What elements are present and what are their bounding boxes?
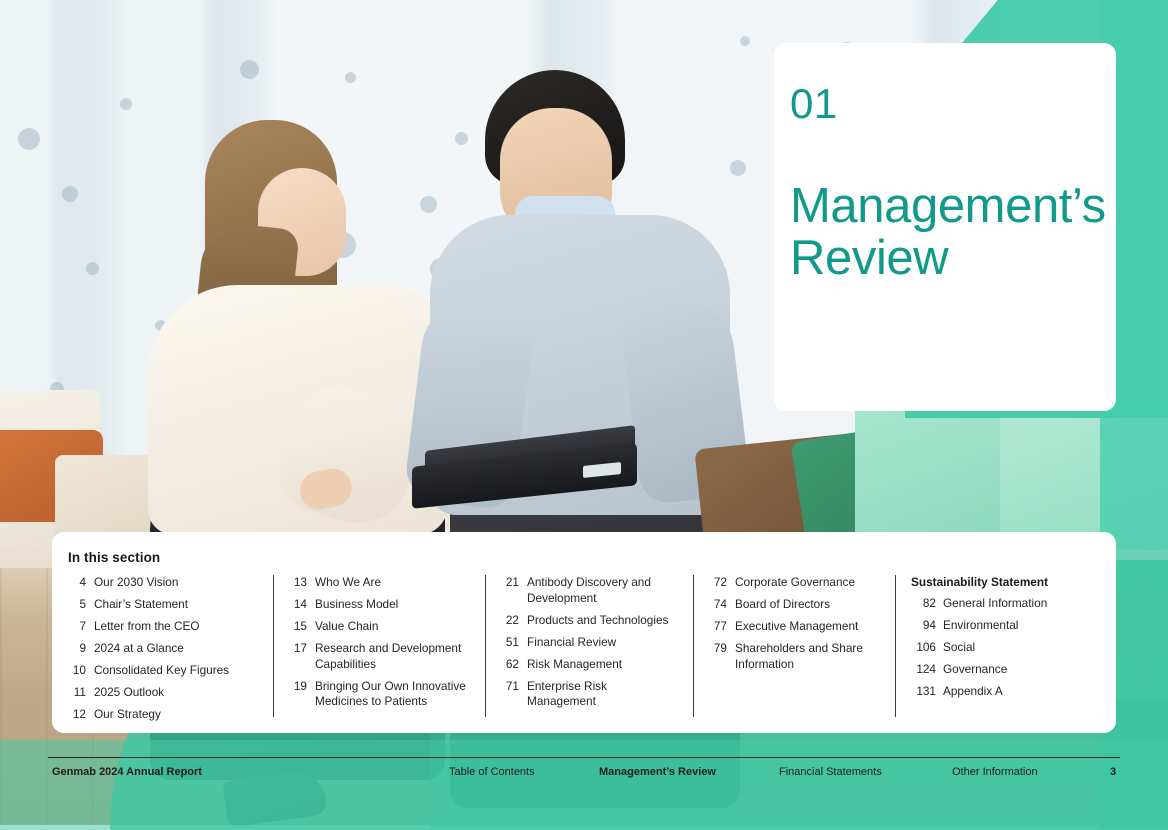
toc-entry-page: 9 bbox=[68, 641, 94, 657]
toc-entry[interactable]: 71Enterprise Risk Management bbox=[501, 679, 679, 710]
toc-entry-label: Antibody Discovery and Development bbox=[527, 575, 679, 606]
toc-entry[interactable]: 92024 at a Glance bbox=[68, 641, 259, 657]
photo-wall-dot bbox=[1120, 80, 1137, 97]
toc-entry-page: 10 bbox=[68, 663, 94, 679]
toc-entry-page: 62 bbox=[501, 657, 527, 673]
page-footer: Genmab 2024 Annual Report Table of Conte… bbox=[0, 766, 1168, 788]
toc-entry-page: 15 bbox=[289, 619, 315, 635]
toc-entry-label: Our 2030 Vision bbox=[94, 575, 259, 591]
toc-entry[interactable]: 10Consolidated Key Figures bbox=[68, 663, 259, 679]
toc-entry-page: 74 bbox=[709, 597, 735, 613]
toc-entry[interactable]: 77Executive Management bbox=[709, 619, 881, 635]
toc-column-sustainability: Sustainability Statement 82General Infor… bbox=[895, 575, 1100, 725]
photo-wall-dot bbox=[86, 262, 99, 275]
toc-entry-page: 51 bbox=[501, 635, 527, 651]
photo-wall-dot bbox=[345, 72, 356, 83]
photo-wall-dot bbox=[18, 128, 40, 150]
footer-nav-financial-statements[interactable]: Financial Statements bbox=[779, 766, 882, 778]
in-this-section-card: In this section 4Our 2030 Vision5Chair’s… bbox=[52, 532, 1116, 733]
toc-entry-page: 79 bbox=[709, 641, 735, 672]
toc-entry-page: 17 bbox=[289, 641, 315, 672]
toc-entry-page: 4 bbox=[68, 575, 94, 591]
toc-columns: 4Our 2030 Vision5Chair’s Statement7Lette… bbox=[68, 575, 1100, 725]
toc-entry-page: 13 bbox=[289, 575, 315, 591]
sustainability-entry[interactable]: 124Governance bbox=[911, 662, 1086, 678]
section-title-card: 01 Management’s Review bbox=[774, 43, 1116, 411]
sustainability-entry[interactable]: 82General Information bbox=[911, 596, 1086, 612]
section-number: 01 bbox=[790, 83, 1116, 125]
toc-entry[interactable]: 112025 Outlook bbox=[68, 685, 259, 701]
sustainability-entry-label: Governance bbox=[943, 662, 1007, 678]
sustainability-entry-page: 94 bbox=[911, 618, 943, 634]
sustainability-entry-label: Environmental bbox=[943, 618, 1018, 634]
sustainability-entry[interactable]: 131Appendix A bbox=[911, 684, 1086, 700]
toc-entry[interactable]: 62Risk Management bbox=[501, 657, 679, 673]
toc-entry-label: Chair’s Statement bbox=[94, 597, 259, 613]
toc-entry-label: Risk Management bbox=[527, 657, 679, 673]
sustainability-entry-page: 82 bbox=[911, 596, 943, 612]
sustainability-entry-label: General Information bbox=[943, 596, 1047, 612]
toc-column-4: 72Corporate Governance74Board of Directo… bbox=[693, 575, 895, 725]
toc-entry[interactable]: 7Letter from the CEO bbox=[68, 619, 259, 635]
toc-entry[interactable]: 51Financial Review bbox=[501, 635, 679, 651]
toc-entry-label: Research and Development Capabilities bbox=[315, 641, 471, 672]
toc-entry-label: Products and Technologies bbox=[527, 613, 679, 629]
photo-wall-dot bbox=[740, 36, 750, 46]
footer-nav-managements-review[interactable]: Management’s Review bbox=[599, 766, 716, 778]
toc-entry-label: Who We Are bbox=[315, 575, 471, 591]
toc-entry-page: 12 bbox=[68, 707, 94, 723]
toc-entry-page: 7 bbox=[68, 619, 94, 635]
toc-entry[interactable]: 14Business Model bbox=[289, 597, 471, 613]
toc-entry-label: 2025 Outlook bbox=[94, 685, 259, 701]
toc-entry-label: Corporate Governance bbox=[735, 575, 881, 591]
toc-entry-label: Letter from the CEO bbox=[94, 619, 259, 635]
sustainability-entry-page: 131 bbox=[911, 684, 943, 700]
toc-entry-label: Our Strategy bbox=[94, 707, 259, 723]
toc-entry-page: 77 bbox=[709, 619, 735, 635]
photo-wall-dot bbox=[240, 60, 259, 79]
footer-nav-other-information[interactable]: Other Information bbox=[952, 766, 1038, 778]
toc-entry[interactable]: 79Shareholders and Share Information bbox=[709, 641, 881, 672]
toc-entry[interactable]: 21Antibody Discovery and Development bbox=[501, 575, 679, 606]
sustainability-entry-page: 106 bbox=[911, 640, 943, 656]
footer-page-number: 3 bbox=[1110, 766, 1116, 778]
sustainability-entry[interactable]: 106Social bbox=[911, 640, 1086, 656]
toc-entry-label: Financial Review bbox=[527, 635, 679, 651]
toc-entry-label: Business Model bbox=[315, 597, 471, 613]
sustainability-entry-page: 124 bbox=[911, 662, 943, 678]
toc-entry[interactable]: 13Who We Are bbox=[289, 575, 471, 591]
toc-entry[interactable]: 72Corporate Governance bbox=[709, 575, 881, 591]
toc-entry-page: 14 bbox=[289, 597, 315, 613]
photo-wall-dot bbox=[730, 160, 746, 176]
toc-entry-page: 21 bbox=[501, 575, 527, 606]
sustainability-list: 82General Information94Environmental106S… bbox=[911, 596, 1086, 700]
photo-wall-dot bbox=[420, 196, 437, 213]
sustainability-entry-label: Appendix A bbox=[943, 684, 1003, 700]
sustainability-entry-label: Social bbox=[943, 640, 975, 656]
footer-nav-table-of-contents[interactable]: Table of Contents bbox=[449, 766, 535, 778]
toc-entry[interactable]: 19Bringing Our Own Innovative Medicines … bbox=[289, 679, 471, 710]
photo-pillow-mint-2 bbox=[1000, 395, 1168, 550]
toc-entry[interactable]: 5Chair’s Statement bbox=[68, 597, 259, 613]
toc-entry-label: Board of Directors bbox=[735, 597, 881, 613]
toc-entry-page: 71 bbox=[501, 679, 527, 710]
sustainability-heading: Sustainability Statement bbox=[911, 575, 1086, 589]
toc-entry-label: 2024 at a Glance bbox=[94, 641, 259, 657]
toc-column-1: 4Our 2030 Vision5Chair’s Statement7Lette… bbox=[68, 575, 273, 725]
toc-entry-page: 5 bbox=[68, 597, 94, 613]
toc-entry-label: Executive Management bbox=[735, 619, 881, 635]
toc-column-2: 13Who We Are14Business Model15Value Chai… bbox=[273, 575, 485, 725]
toc-entry[interactable]: 12Our Strategy bbox=[68, 707, 259, 723]
in-this-section-heading: In this section bbox=[68, 550, 1100, 565]
sustainability-entry[interactable]: 94Environmental bbox=[911, 618, 1086, 634]
toc-entry[interactable]: 4Our 2030 Vision bbox=[68, 575, 259, 591]
photo-pillow-mint-1 bbox=[855, 398, 1015, 548]
footer-brand: Genmab 2024 Annual Report bbox=[52, 766, 202, 778]
photo-wall-dot bbox=[120, 98, 132, 110]
toc-entry[interactable]: 22Products and Technologies bbox=[501, 613, 679, 629]
toc-entry-page: 19 bbox=[289, 679, 315, 710]
toc-entry-page: 11 bbox=[68, 685, 94, 701]
toc-entry[interactable]: 17Research and Development Capabilities bbox=[289, 641, 471, 672]
toc-entry-label: Shareholders and Share Information bbox=[735, 641, 881, 672]
toc-entry[interactable]: 15Value Chain bbox=[289, 619, 471, 635]
photo-wall-dot bbox=[62, 186, 78, 202]
footer-divider bbox=[48, 757, 1120, 758]
toc-entry-label: Bringing Our Own Innovative Medicines to… bbox=[315, 679, 471, 710]
toc-entry-page: 72 bbox=[709, 575, 735, 591]
photo-wall-dot bbox=[455, 132, 468, 145]
toc-entry-label: Value Chain bbox=[315, 619, 471, 635]
toc-entry-label: Enterprise Risk Management bbox=[527, 679, 679, 710]
section-title: Management’s Review bbox=[790, 181, 1116, 285]
toc-column-3: 21Antibody Discovery and Development22Pr… bbox=[485, 575, 693, 725]
toc-entry[interactable]: 74Board of Directors bbox=[709, 597, 881, 613]
toc-entry-page: 22 bbox=[501, 613, 527, 629]
toc-entry-label: Consolidated Key Figures bbox=[94, 663, 259, 679]
